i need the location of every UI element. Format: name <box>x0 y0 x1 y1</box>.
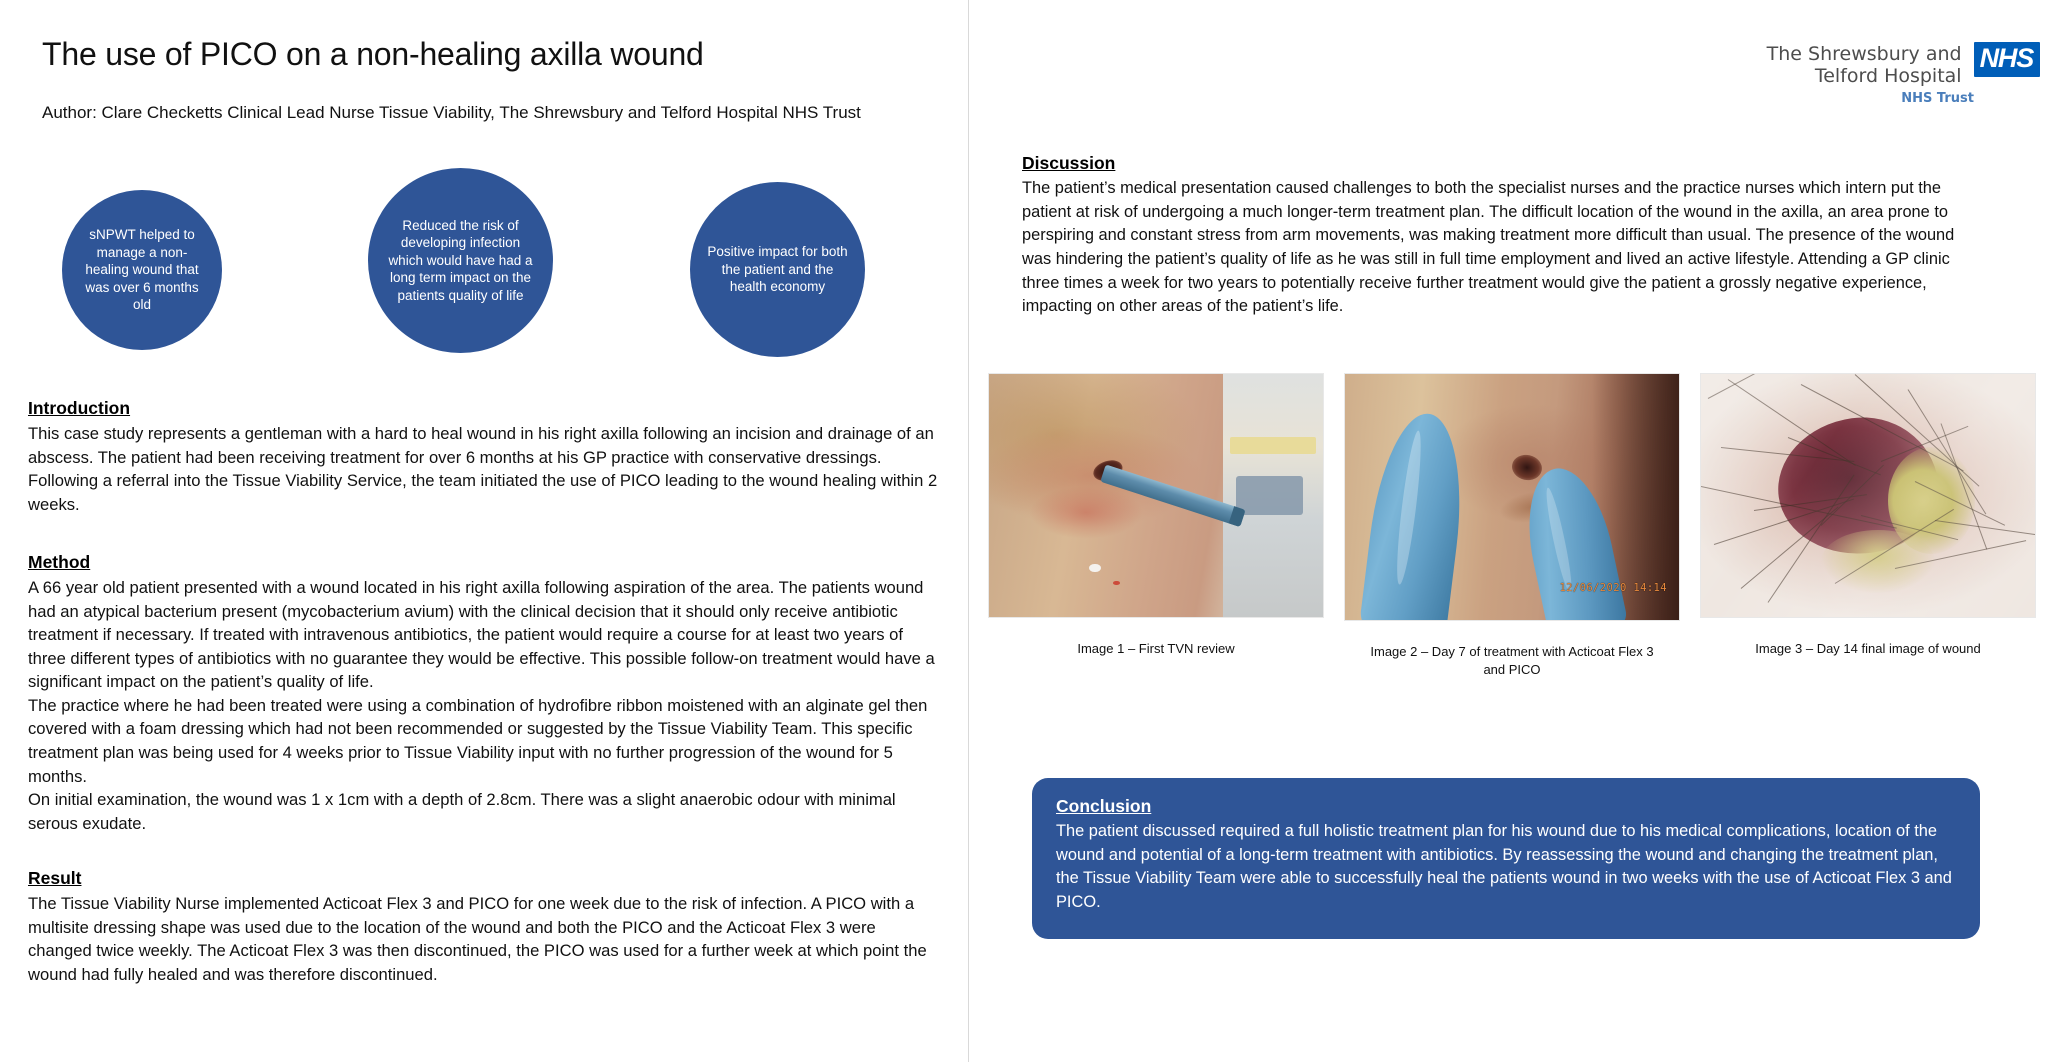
clinical-photo-2: 12/06/2020 14:14 <box>1344 373 1680 621</box>
figure-2: 12/06/2020 14:14 Image 2 – Day 7 of trea… <box>1344 373 1680 678</box>
section-body-method-paragraph-1: A 66 year old patient presented with a w… <box>28 576 943 694</box>
figure-1-caption: Image 1 – First TVN review <box>988 640 1324 658</box>
key-point-text-1: sNPWT helped to manage a non-healing wou… <box>76 226 208 314</box>
nhs-trust-name-line1: The Shrewsbury and <box>1767 43 1962 65</box>
key-point-circle-1: sNPWT helped to manage a non-healing wou… <box>62 190 222 350</box>
key-point-text-3: Positive impact for both the patient and… <box>704 243 851 296</box>
photo-timestamp: 12/06/2020 14:14 <box>1559 582 1667 594</box>
column-divider <box>968 0 969 1062</box>
key-point-circle-2: Reduced the risk of developing infection… <box>368 168 553 353</box>
section-body-method-paragraph-2: The practice where he had been treated w… <box>28 694 943 788</box>
section-body-discussion: The patient’s medical presentation cause… <box>1022 177 1982 319</box>
key-point-circle-3: Positive impact for both the patient and… <box>690 182 865 357</box>
key-point-text-2: Reduced the risk of developing infection… <box>382 217 539 305</box>
nhs-trust-logo: The Shrewsbury and Telford Hospital NHS … <box>1710 42 2040 106</box>
nhs-trust-name: The Shrewsbury and Telford Hospital <box>1767 42 1962 88</box>
figure-2-caption: Image 2 – Day 7 of treatment with Actico… <box>1362 643 1662 678</box>
section-heading-introduction: Introduction <box>28 398 943 419</box>
nhs-trust-name-line2: Telford Hospital <box>1767 65 1962 87</box>
figure-strip: Image 1 – First TVN review 12/06/2020 14… <box>988 373 2036 678</box>
key-points-group: sNPWT helped to manage a non-healing wou… <box>0 168 960 368</box>
nhs-trust-subtitle: NHS Trust <box>1710 91 2040 106</box>
section-discussion: Discussion The patient’s medical present… <box>1022 153 1982 319</box>
section-body-method-paragraph-3: On initial examination, the wound was 1 … <box>28 788 943 835</box>
section-body-introduction: This case study represents a gentleman w… <box>28 422 943 516</box>
section-conclusion: Conclusion The patient discussed require… <box>1032 778 1980 939</box>
clinical-photo-3 <box>1700 373 2036 618</box>
section-heading-discussion: Discussion <box>1022 153 1982 174</box>
section-body-result: The Tissue Viability Nurse implemented A… <box>28 892 943 986</box>
page-title: The use of PICO on a non-healing axilla … <box>42 36 704 73</box>
section-body-conclusion: The patient discussed required a full ho… <box>1056 820 1956 915</box>
section-heading-method: Method <box>28 552 943 573</box>
section-introduction: Introduction This case study represents … <box>28 398 943 516</box>
section-heading-result: Result <box>28 868 943 889</box>
clinical-photo-1 <box>988 373 1324 618</box>
figure-3-caption: Image 3 – Day 14 final image of wound <box>1700 640 2036 658</box>
section-heading-conclusion: Conclusion <box>1056 796 1956 817</box>
figure-3: Image 3 – Day 14 final image of wound <box>1700 373 2036 658</box>
author-line: Author: Clare Checketts Clinical Lead Nu… <box>42 103 861 123</box>
nhs-logo-mark: NHS <box>1974 42 2040 77</box>
figure-1: Image 1 – First TVN review <box>988 373 1324 658</box>
section-method: Method A 66 year old patient presented w… <box>28 552 943 835</box>
section-result: Result The Tissue Viability Nurse implem… <box>28 868 943 986</box>
